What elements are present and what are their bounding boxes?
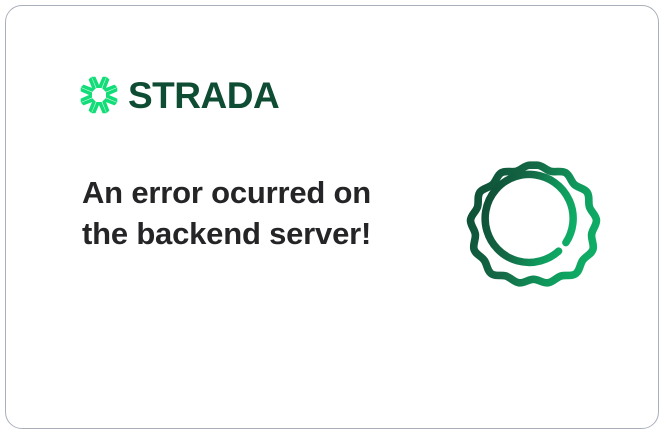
strada-asterisk-icon: [80, 76, 118, 114]
error-message: An error ocurred on the backend server!: [82, 172, 372, 254]
error-screen: STRADA An error ocurred on the backend s…: [0, 0, 666, 436]
gear-icon: [449, 144, 615, 310]
brand-wordmark: STRADA: [128, 77, 279, 114]
error-card: STRADA An error ocurred on the backend s…: [5, 5, 659, 429]
brand-logo: STRADA: [80, 76, 279, 114]
